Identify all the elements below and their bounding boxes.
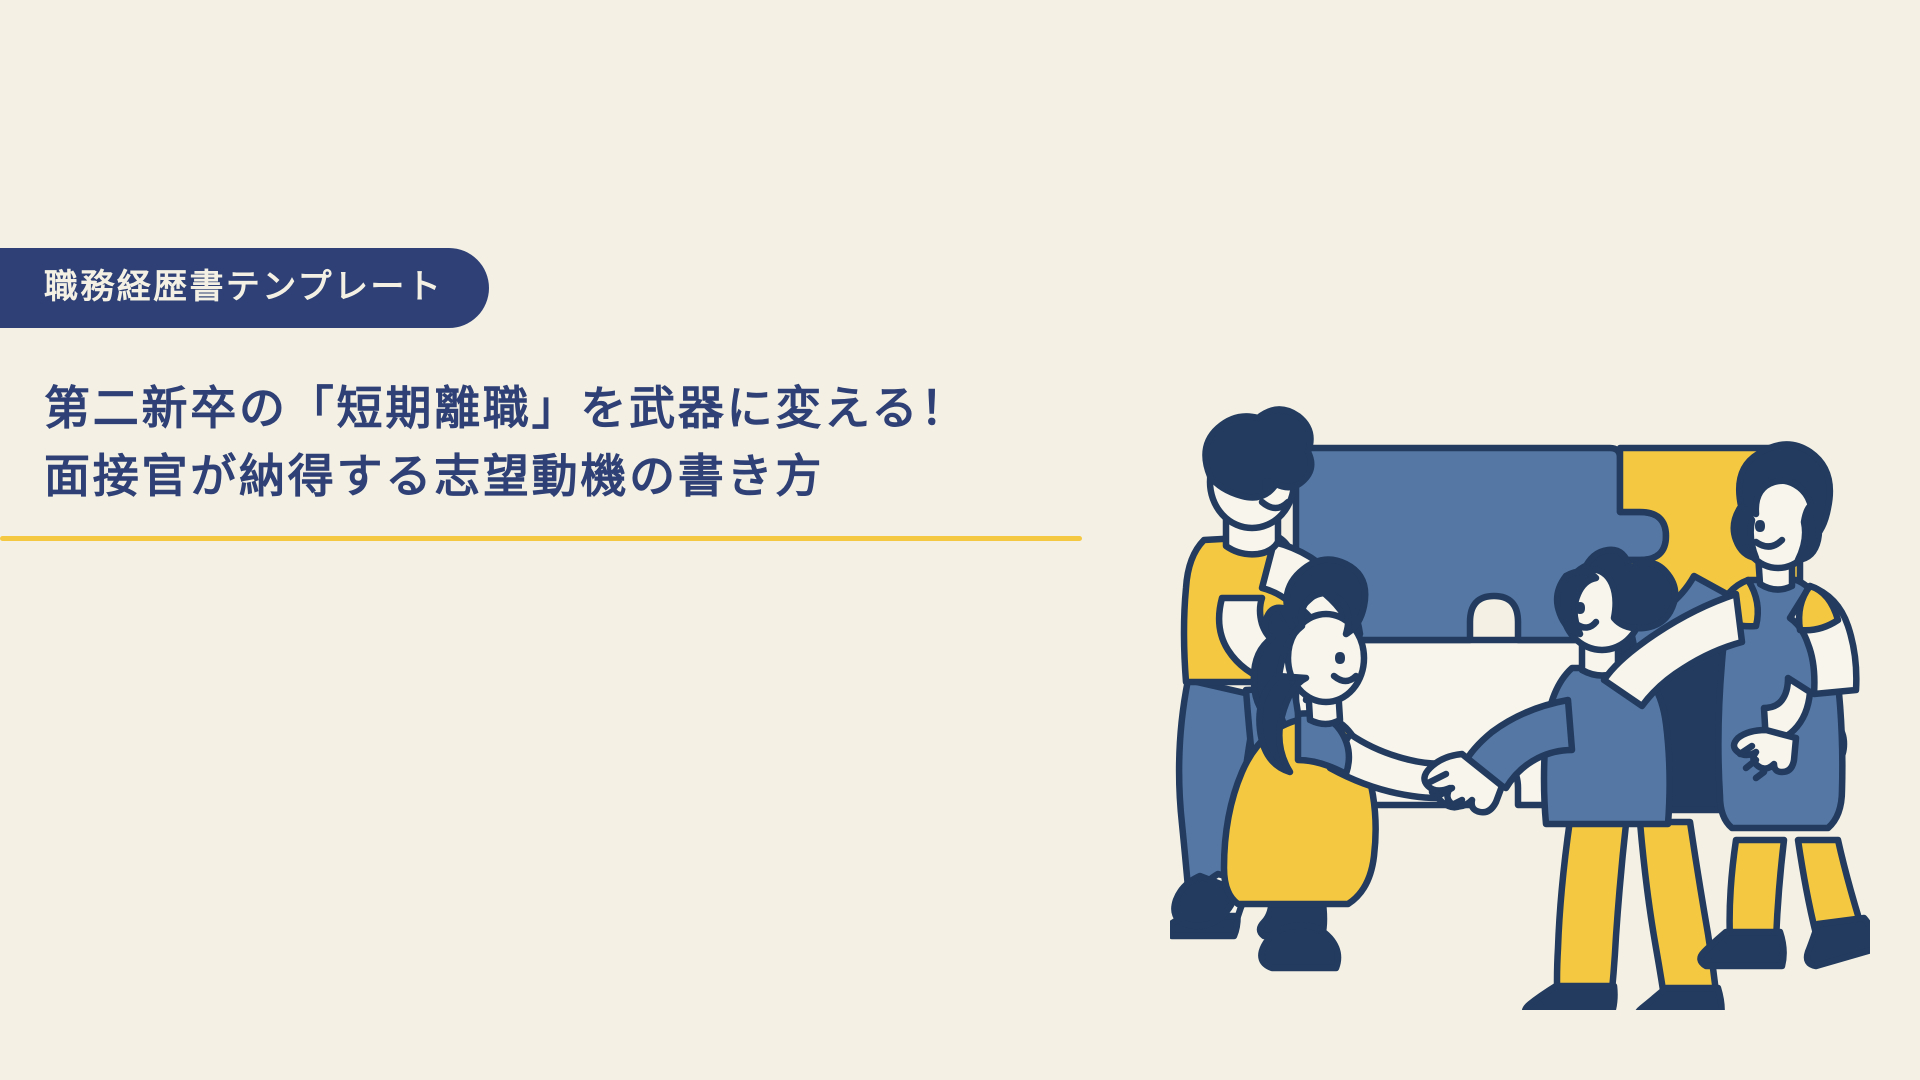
puzzle-teamwork-illustration bbox=[1170, 390, 1870, 1010]
category-badge: 職務経歴書テンプレート bbox=[0, 248, 489, 328]
hero-illustration bbox=[1170, 390, 1870, 1010]
hero-banner: 職務経歴書テンプレート 第二新卒の「短期離職」を武器に変える！ 面接官が納得する… bbox=[0, 0, 1920, 1080]
text-content-block: 職務経歴書テンプレート 第二新卒の「短期離職」を武器に変える！ 面接官が納得する… bbox=[0, 248, 1140, 541]
page-title: 第二新卒の「短期離職」を武器に変える！ 面接官が納得する志望動機の書き方 bbox=[0, 374, 1140, 510]
page-title-line-1: 第二新卒の「短期離職」を武器に変える！ bbox=[44, 374, 1140, 442]
title-divider bbox=[0, 536, 1082, 541]
page-title-line-2: 面接官が納得する志望動機の書き方 bbox=[44, 442, 1140, 510]
